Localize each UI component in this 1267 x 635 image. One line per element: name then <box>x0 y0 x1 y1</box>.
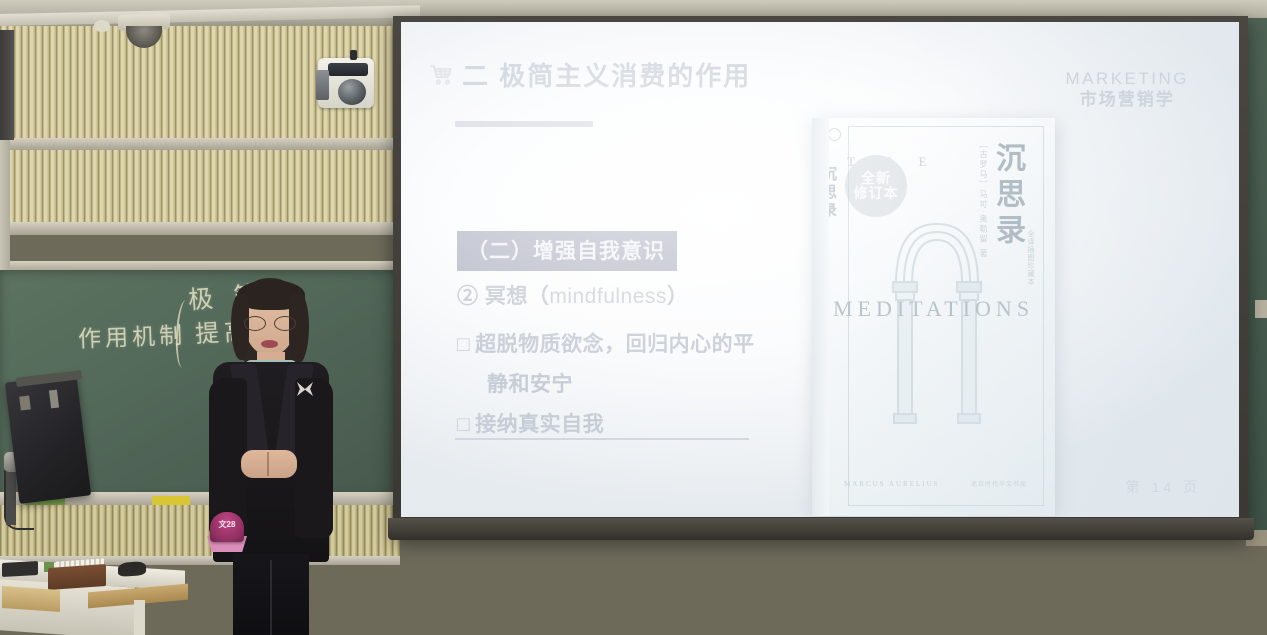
wall-trim <box>0 222 400 235</box>
presenter: 文28 <box>185 272 350 635</box>
wall-unit-display <box>328 63 368 76</box>
mouth <box>261 340 278 348</box>
book-cover-border <box>848 126 1044 506</box>
ceiling-sensor-icon <box>94 20 110 32</box>
bullet-english: mindfulness <box>549 285 667 308</box>
presentation-slide: 二 极简主义消费的作用 MARKETING 市场营销学 （二）增强自我意识 ② … <box>401 22 1239 517</box>
hand-divider <box>267 452 269 476</box>
bullet-item: □接纳真实自我 <box>457 408 604 438</box>
publisher-logo-icon <box>828 128 841 141</box>
computer-mouse <box>118 561 146 577</box>
content-divider <box>455 438 749 440</box>
wall-unit-bracket <box>316 70 329 100</box>
slide-title-row: 二 极简主义消费的作用 <box>429 56 751 93</box>
bullet-text: 接纳真实自我 <box>475 413 604 436</box>
course-brand: MARKETING 市场营销学 <box>1065 68 1189 111</box>
wall-unit-lens-icon <box>338 79 366 105</box>
projection-screen-bottom-bar <box>388 518 1254 540</box>
bullet-marker-square: □ <box>457 333 470 356</box>
slide-page-number: 第 14 页 <box>1126 477 1201 497</box>
desk-leg <box>134 600 145 635</box>
title-underline <box>455 121 593 127</box>
chalkboard-clip <box>1255 300 1267 318</box>
brand-chinese: 市场营销学 <box>1065 89 1189 110</box>
trouser-seam <box>270 560 272 635</box>
wall-column <box>0 30 14 140</box>
monitor-label <box>19 395 31 410</box>
blackboard-eraser <box>2 561 38 577</box>
hands <box>241 450 297 478</box>
bullet-marker-square: □ <box>457 413 470 436</box>
wall-unit-antenna <box>350 50 357 60</box>
chalkboard-right-edge <box>1246 18 1267 530</box>
book-spine <box>812 118 829 516</box>
desk-monitor <box>5 374 91 504</box>
bullet-marker: ② <box>457 285 479 308</box>
arm-right <box>295 378 333 538</box>
id-badge-label: 文28 <box>210 519 244 530</box>
projection-screen: 二 极简主义消费的作用 MARKETING 市场营销学 （二）增强自我意识 ② … <box>401 22 1239 517</box>
bullet-item-continuation: 静和安宁 <box>487 368 573 398</box>
bullet-text: 静和安宁 <box>487 373 573 396</box>
bullet-text: 冥想（ <box>485 285 550 308</box>
slide-title: 二 极简主义消费的作用 <box>462 56 751 93</box>
chalk-handwriting: 作用机制 <box>77 316 186 354</box>
wall-trim <box>0 138 400 150</box>
chalk-box <box>48 564 106 590</box>
brand-english: MARKETING <box>1065 68 1189 89</box>
bullet-item: □超脱物质欲念，回归内心的平 <box>457 328 755 358</box>
bullet-tail: ） <box>667 285 689 308</box>
glasses-icon <box>244 316 296 329</box>
wood-slat-wall-middle <box>0 150 400 222</box>
classroom-lecture-screenshot: 极 简 作用机制 提高认 <box>0 0 1267 635</box>
shopping-cart-icon <box>429 63 455 87</box>
section-heading: （二）增强自我意识 <box>457 231 677 271</box>
paper-tray <box>2 586 60 612</box>
bullet-item: ② 冥想（mindfulness） <box>457 280 688 310</box>
bullet-text: 超脱物质欲念，回归内心的平 <box>475 333 755 356</box>
